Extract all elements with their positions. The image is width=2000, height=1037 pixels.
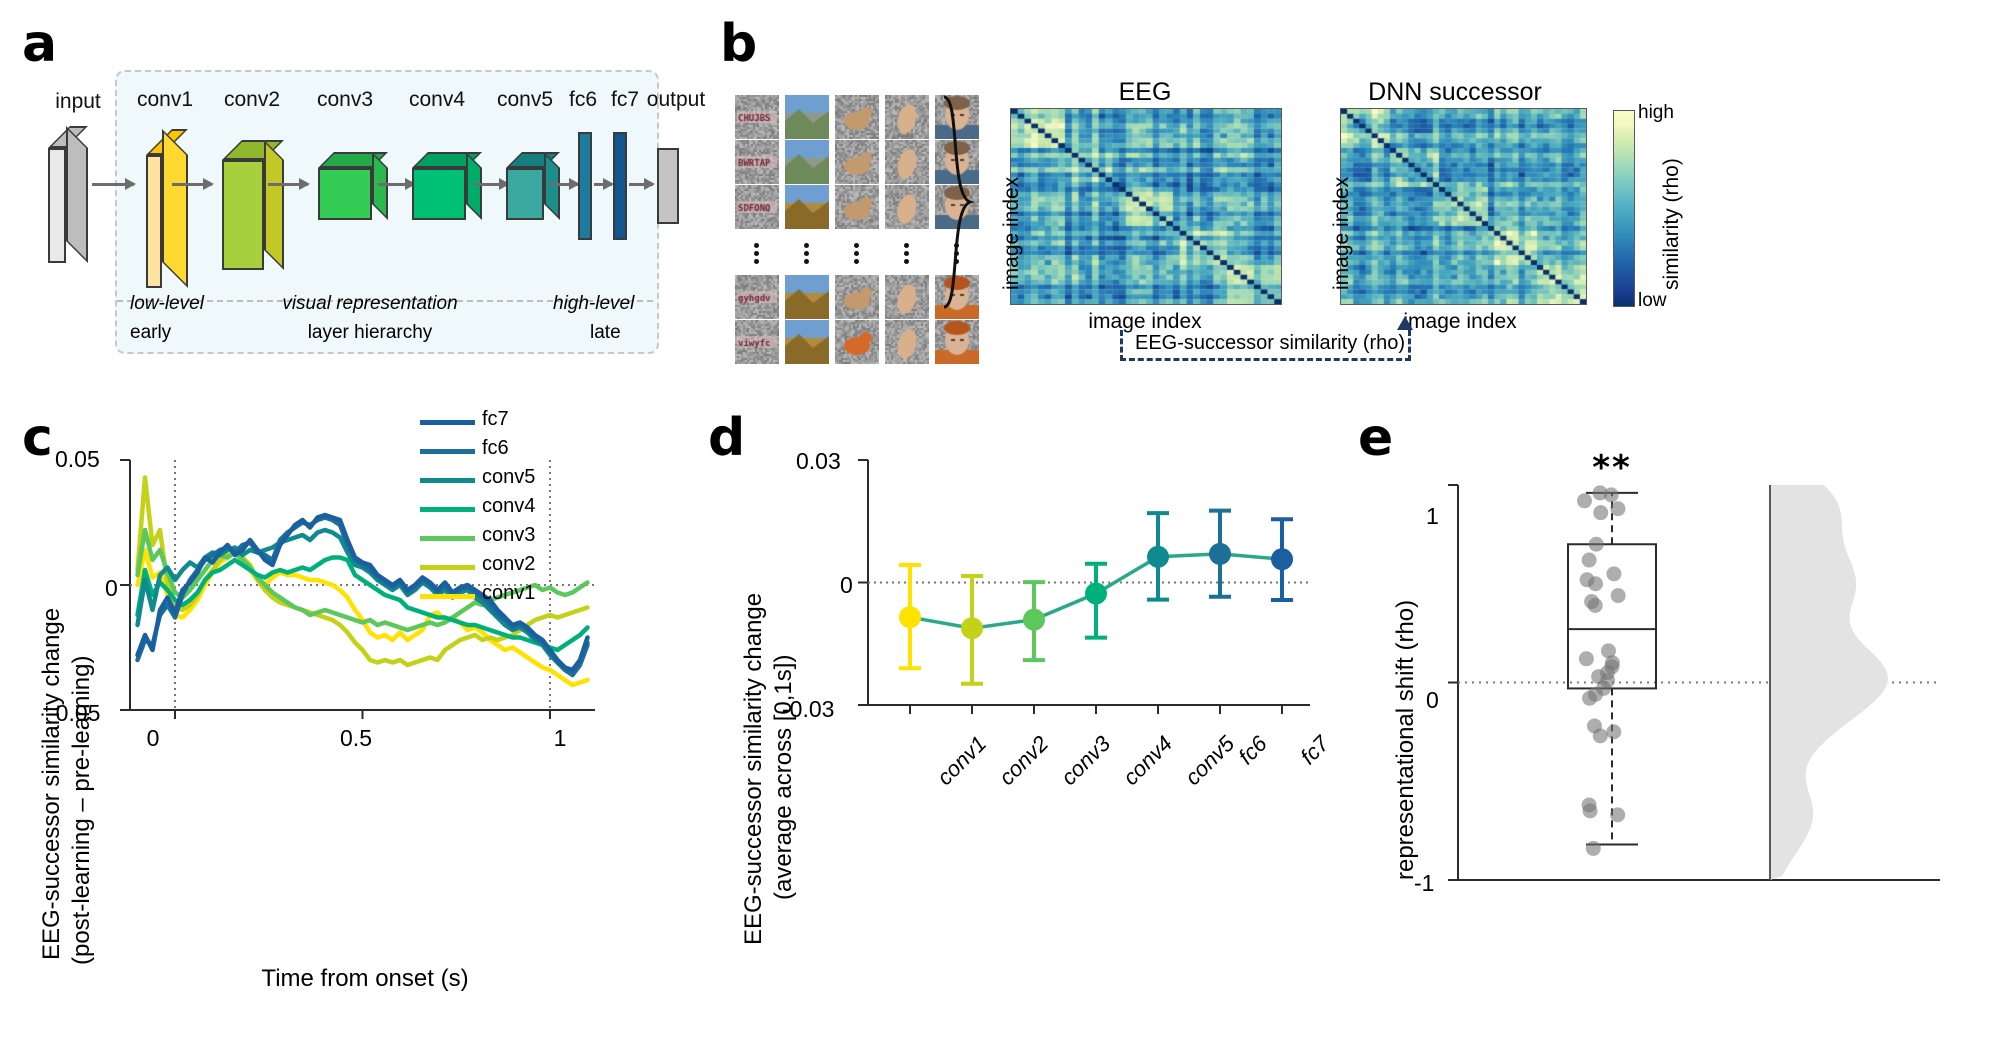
raincloud-plot [1340, 400, 2000, 1037]
legend-swatch-conv4 [420, 507, 475, 512]
panel-e-ytick-mid: 0 [1426, 687, 1439, 714]
legend-label-conv3: conv3 [482, 524, 535, 547]
colorbar-label-high: high [1638, 102, 1674, 124]
panel-e-data-point [1604, 487, 1619, 502]
legend-swatch-conv2 [420, 565, 475, 570]
panel-e-data-point [1583, 803, 1598, 818]
panel-d-ylabel-line1: EEG-successor similarity change [740, 593, 768, 945]
stimulus-thumbnail [885, 275, 929, 319]
panel-d-ytick-mid: 0 [840, 572, 853, 599]
output-slab [657, 148, 679, 224]
panel-e-data-point [1586, 841, 1601, 856]
rdm-matrix-dnn [1340, 108, 1587, 305]
panel-e-data-point [1593, 728, 1608, 743]
stimulus-thumbnail [735, 320, 779, 364]
panel-e-data-point [1593, 505, 1608, 520]
panel-letter-a: a [22, 18, 57, 70]
stimulus-thumbnail [785, 275, 829, 319]
layer-label-output: output [647, 88, 705, 112]
ellipsis-icon [754, 240, 759, 267]
stimulus-thumbnail [835, 95, 879, 139]
colorbar-title: similarity (rho) [1660, 158, 1684, 290]
panel-e-data-point [1610, 501, 1625, 516]
arrow-fc7-output [629, 183, 653, 186]
layer-label-conv3: conv3 [317, 88, 373, 112]
layer-label-fc6: fc6 [569, 88, 597, 112]
stimulus-thumbnail [735, 140, 779, 184]
panel-e-data-point [1589, 537, 1604, 552]
stimulus-thumbnail [785, 185, 829, 229]
stimulus-thumbnail [835, 275, 879, 319]
matrix-title-eeg: EEG [1119, 78, 1172, 107]
panel-letter-b: b [720, 18, 757, 70]
panel-d-marker-conv4 [1085, 583, 1107, 605]
ellipsis-icon [904, 240, 909, 267]
panel-e-ylabel: representational shift (rho) [1392, 600, 1420, 880]
stimulus-thumbnail [735, 275, 779, 319]
panel-e-data-point [1582, 691, 1597, 706]
legend-label-conv1: conv1 [482, 582, 535, 605]
stimulus-thumbnail [885, 185, 929, 229]
stimulus-thumbnail [885, 320, 929, 364]
layer-block-fc7 [613, 132, 627, 240]
matrix-title-dnn: DNN successor [1368, 78, 1542, 107]
stimulus-thumbnail [835, 140, 879, 184]
panel-c-ytick-bottom: -0.05 [48, 700, 100, 727]
layer-label-fc7: fc7 [611, 88, 639, 112]
panel-e-data-point [1579, 651, 1594, 666]
panel-e-data-point [1611, 588, 1626, 603]
panel-d-ylabel-line2: (average across [0,1s]) [770, 655, 798, 900]
legend-label-conv2: conv2 [482, 553, 535, 576]
stimulus-thumbnail [785, 140, 829, 184]
panel-e-data-point [1577, 493, 1592, 508]
panel-d-marker-fc6 [1209, 543, 1231, 565]
stimulus-thumbnail [735, 185, 779, 229]
colorbar-label-low: low [1638, 290, 1667, 312]
layer-block-fc6 [578, 132, 592, 240]
panel-d-marker-conv3 [1023, 609, 1045, 631]
stimulus-thumbnail [835, 185, 879, 229]
panel-c-ytick-top: 0.05 [55, 446, 100, 473]
arrow-conv5-fc6 [550, 183, 578, 186]
curly-brace-icon [940, 95, 980, 310]
panel-c-xtick-05: 0.5 [340, 725, 372, 752]
legend-swatch-fc7 [420, 420, 475, 425]
stimulus-thumbnail [935, 320, 979, 364]
legend-swatch-conv3 [420, 536, 475, 541]
panel-e-ytick-top: 1 [1426, 503, 1439, 530]
rdm-matrix-eeg [1010, 108, 1282, 305]
panel-e-data-point [1606, 724, 1621, 739]
stimulus-thumbnail [735, 95, 779, 139]
panel-d-ytick-bottom: -0.03 [782, 696, 834, 723]
panel-a: a input conv1 conv2 conv3 conv4 conv5 fc… [0, 0, 730, 400]
layer-label-input: input [55, 90, 101, 114]
annotation-late: late [590, 322, 621, 344]
legend-label-fc7: fc7 [482, 408, 509, 431]
arrow-conv4-conv5 [474, 183, 508, 186]
annotation-high-level: high-level [553, 293, 634, 315]
arrow-conv1-conv2 [172, 183, 212, 186]
stimulus-thumbnail [885, 140, 929, 184]
panel-e-density-cloud [1770, 485, 1888, 880]
legend-swatch-conv5 [420, 478, 475, 483]
stimulus-thumbnail [835, 320, 879, 364]
layer-label-conv5: conv5 [497, 88, 553, 112]
layer-label-conv2: conv2 [224, 88, 280, 112]
arrow-fc6-fc7 [594, 183, 612, 186]
legend-label-fc6: fc6 [482, 437, 509, 460]
significance-marker: ** [1592, 448, 1632, 488]
colorbar [1613, 110, 1635, 307]
panel-e-data-point [1606, 566, 1621, 581]
panel-d-marker-fc7 [1271, 548, 1293, 570]
stimulus-thumbnail [885, 95, 929, 139]
ellipsis-icon [804, 240, 809, 267]
arrow-conv2-conv3 [268, 183, 308, 186]
legend-swatch-fc6 [420, 449, 475, 454]
annotation-early: early [130, 322, 171, 344]
legend-swatch-conv1 [420, 594, 475, 599]
panel-d-marker-conv5 [1147, 546, 1169, 568]
stimulus-thumbnail [785, 320, 829, 364]
panel-d-ytick-top: 0.03 [796, 448, 841, 475]
annotation-visual-representation: visual representation [282, 293, 457, 315]
arrow-input-conv1 [92, 183, 134, 186]
arrow-conv3-conv4 [378, 183, 414, 186]
panel-d-marker-conv2 [961, 617, 983, 639]
timeseries-plot [0, 400, 700, 1037]
panel-e-data-point [1588, 598, 1603, 613]
legend-label-conv4: conv4 [482, 495, 535, 518]
panel-e: e representational shift (rho) 1 0 -1 ** [1340, 400, 2000, 1037]
link-arrow-up-icon [1396, 316, 1414, 336]
panel-e-data-point [1582, 553, 1597, 568]
panel-c-ylabel-line1: EEG-successor similarity change [38, 608, 66, 960]
layer-label-conv4: conv4 [409, 88, 465, 112]
matrix-ylabel-eeg: image index [1000, 177, 1024, 290]
stimulus-thumbnail [785, 95, 829, 139]
annotation-low-level: low-level [130, 293, 204, 315]
panel-c-xlabel: Time from onset (s) [261, 965, 468, 993]
matrix-ylabel-dnn: image index [1330, 177, 1354, 290]
panel-c: c EEG-successor similarity change (post-… [0, 400, 700, 1037]
panel-e-data-point [1610, 807, 1625, 822]
similarity-link-label: EEG-successor similarity (rho) [1135, 332, 1405, 355]
panel-c-xtick-1: 1 [554, 725, 567, 752]
panel-e-data-point [1588, 576, 1603, 591]
layer-label-conv1: conv1 [137, 88, 193, 112]
panel-b: b EEG image index image index DNN succes… [720, 0, 2000, 400]
panel-c-ytick-mid: 0 [105, 575, 118, 602]
panel-d-marker-conv1 [899, 606, 921, 628]
panel-c-xtick-0: 0 [147, 725, 160, 752]
panel-d: d EEG-successor similarity change (avera… [700, 400, 1340, 1037]
legend-label-conv5: conv5 [482, 466, 535, 489]
panel-e-ytick-bottom: -1 [1414, 870, 1434, 897]
annotation-layer-hierarchy: layer hierarchy [308, 322, 433, 344]
ellipsis-icon [854, 240, 859, 267]
matrix-xlabel-dnn: image index [1403, 310, 1516, 334]
